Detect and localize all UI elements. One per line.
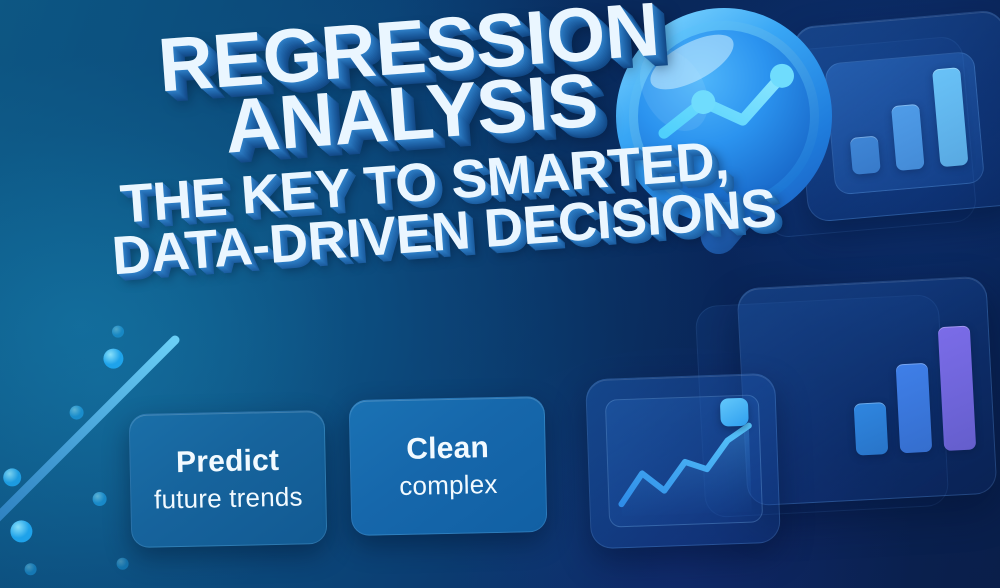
line-chart-panel bbox=[585, 373, 781, 550]
scatter-point bbox=[112, 326, 124, 338]
scatter-point bbox=[10, 520, 32, 542]
feature-card-subtitle: future trends bbox=[154, 481, 303, 515]
bar-3 bbox=[932, 67, 968, 167]
bar-2 bbox=[891, 104, 925, 171]
title-block: REGRESSION ANALYSIS THE KEY TO SMARTED, … bbox=[96, 0, 752, 282]
feature-card-title: Clean bbox=[406, 431, 489, 467]
bar-1 bbox=[854, 402, 889, 456]
trend-line-icon bbox=[605, 394, 763, 527]
lens-chart-marker bbox=[770, 64, 794, 88]
scatter-point bbox=[117, 558, 129, 570]
scatter-point bbox=[70, 406, 84, 420]
trend-endpoint-marker bbox=[720, 398, 749, 427]
banner-root: REGRESSION ANALYSIS THE KEY TO SMARTED, … bbox=[0, 0, 1000, 588]
feature-card-predict[interactable]: Predict future trends bbox=[129, 410, 328, 548]
feature-card-clean[interactable]: Clean complex bbox=[349, 396, 548, 536]
scatter-point bbox=[93, 492, 107, 506]
scatter-point bbox=[3, 468, 21, 486]
feature-card-subtitle: complex bbox=[399, 468, 498, 501]
bar-chart-icon bbox=[850, 326, 976, 456]
bar-2 bbox=[896, 363, 933, 454]
feature-card-title: Predict bbox=[176, 443, 280, 479]
scatter-point bbox=[25, 563, 37, 575]
bar-3 bbox=[938, 326, 976, 452]
scatter-point bbox=[103, 349, 123, 369]
